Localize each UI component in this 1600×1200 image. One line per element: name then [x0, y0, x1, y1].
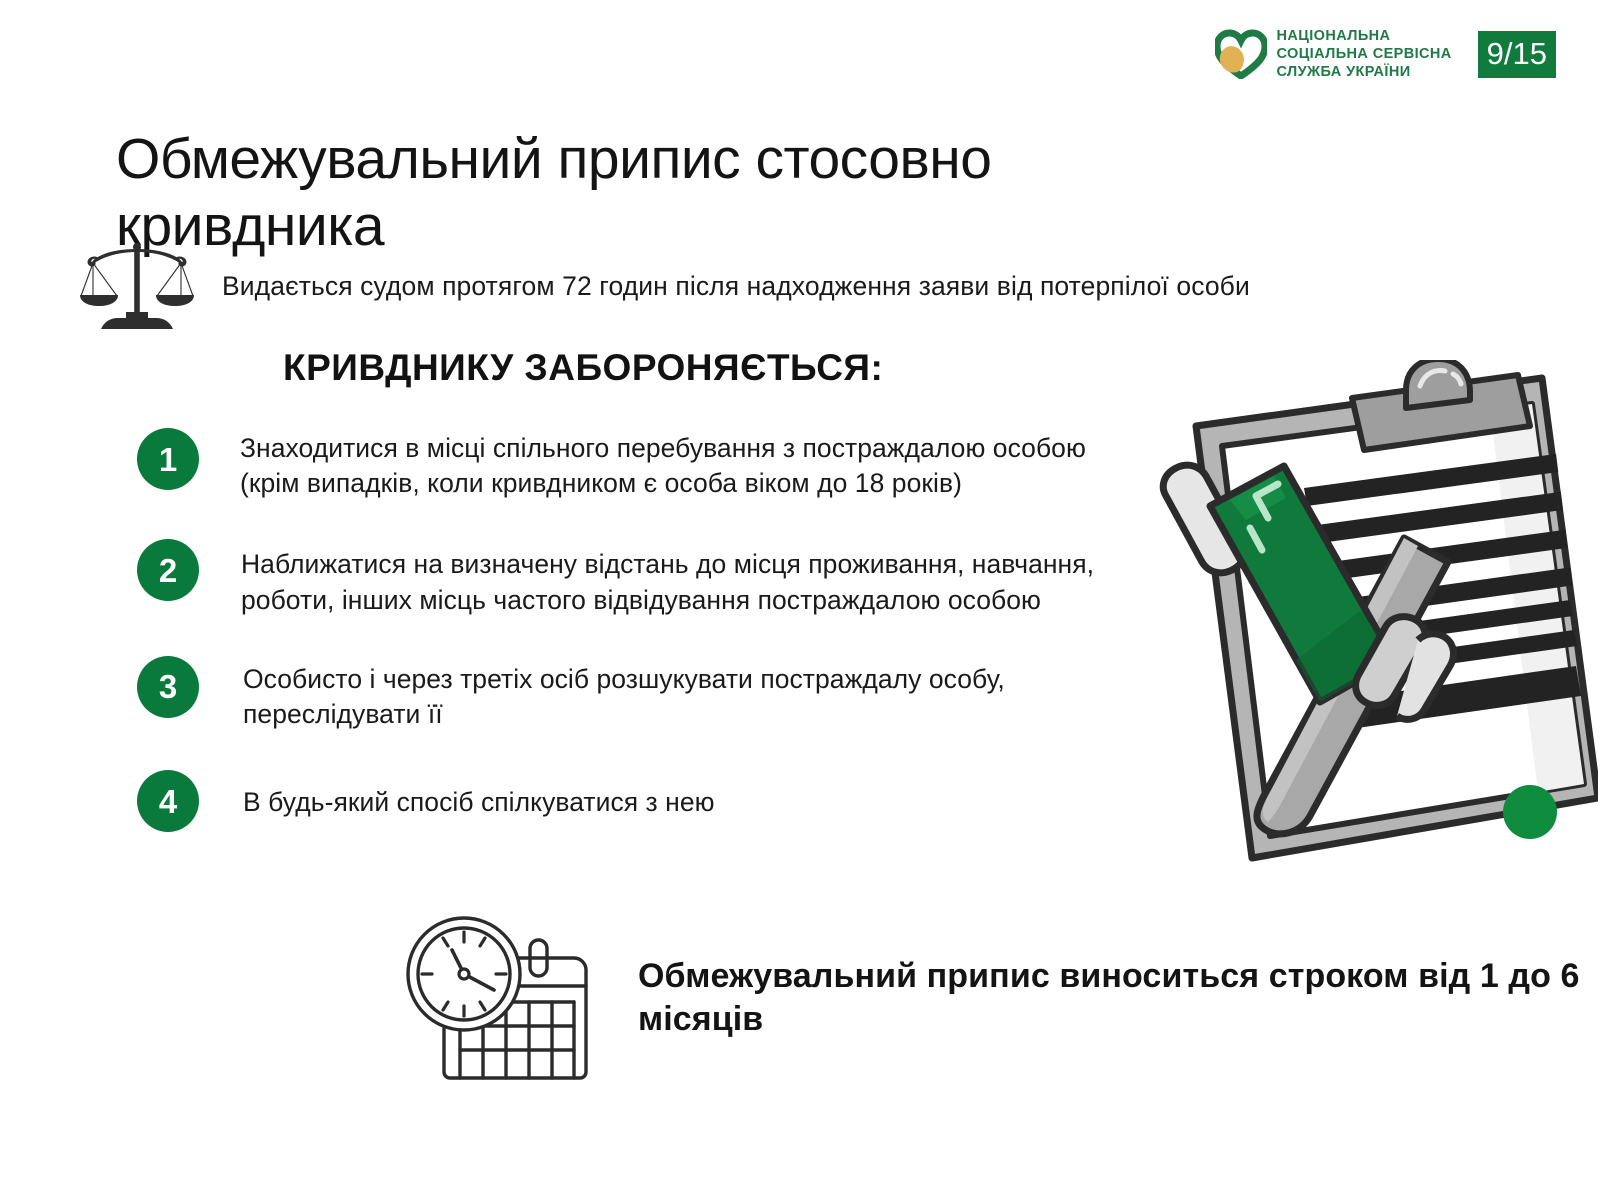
- heart-hand-logo-icon: [1215, 29, 1267, 79]
- prohibitions-list: 1 Знаходитися в місці спільного перебува…: [137, 428, 1137, 832]
- organization-logo: НАЦІОНАЛЬНА СОЦІАЛЬНА СЕРВІСНА СЛУЖБА УК…: [1215, 28, 1452, 81]
- list-item-number-badge: 1: [137, 428, 199, 490]
- duration-note: Обмежувальний припис виноситься строком …: [398, 912, 1600, 1084]
- header: НАЦІОНАЛЬНА СОЦІАЛЬНА СЕРВІСНА СЛУЖБА УК…: [1215, 28, 1557, 81]
- list-item-text: В будь-який спосіб спілкуватися з нею: [243, 770, 715, 820]
- scales-of-justice-icon: [78, 238, 196, 334]
- clock-calendar-icon: [398, 912, 610, 1084]
- subtitle-text: Видається судом протягом 72 годин після …: [222, 269, 1250, 303]
- list-item-text: Знаходитися в місці спільного перебуванн…: [240, 428, 1137, 501]
- list-item: 1 Знаходитися в місці спільного перебува…: [137, 428, 1137, 501]
- subtitle-row: Видається судом протягом 72 годин після …: [78, 238, 1498, 334]
- logo-wordmark: НАЦІОНАЛЬНА СОЦІАЛЬНА СЕРВІСНА СЛУЖБА УК…: [1277, 28, 1452, 81]
- logo-line-3: СЛУЖБА УКРАЇНИ: [1277, 64, 1452, 80]
- page-number-badge: 9/15: [1478, 31, 1556, 78]
- list-item-text: Наближатися на визначену відстань до міс…: [241, 539, 1137, 617]
- list-item-text: Особисто і через третіх осіб розшукувати…: [243, 656, 1137, 732]
- list-item-number-badge: 4: [137, 770, 199, 832]
- section-heading: КРИВДНИКУ ЗАБОРОНЯЄТЬСЯ:: [283, 347, 883, 389]
- logo-line-1: НАЦІОНАЛЬНА: [1277, 28, 1452, 44]
- document-seal: [1503, 785, 1557, 839]
- list-item: 3 Особисто і через третіх осіб розшукува…: [137, 656, 1137, 732]
- list-item: 4 В будь-який спосіб спілкуватися з нею: [137, 770, 1137, 832]
- list-item: 2 Наближатися на визначену відстань до м…: [137, 539, 1137, 617]
- duration-note-text: Обмежувальний припис виноситься строком …: [638, 955, 1600, 1041]
- list-item-number-badge: 2: [137, 539, 199, 601]
- logo-line-2: СОЦІАЛЬНА СЕРВІСНА: [1277, 46, 1452, 62]
- gavel-on-clipboard-illustration: [1118, 360, 1598, 900]
- list-item-number-badge: 3: [137, 656, 199, 718]
